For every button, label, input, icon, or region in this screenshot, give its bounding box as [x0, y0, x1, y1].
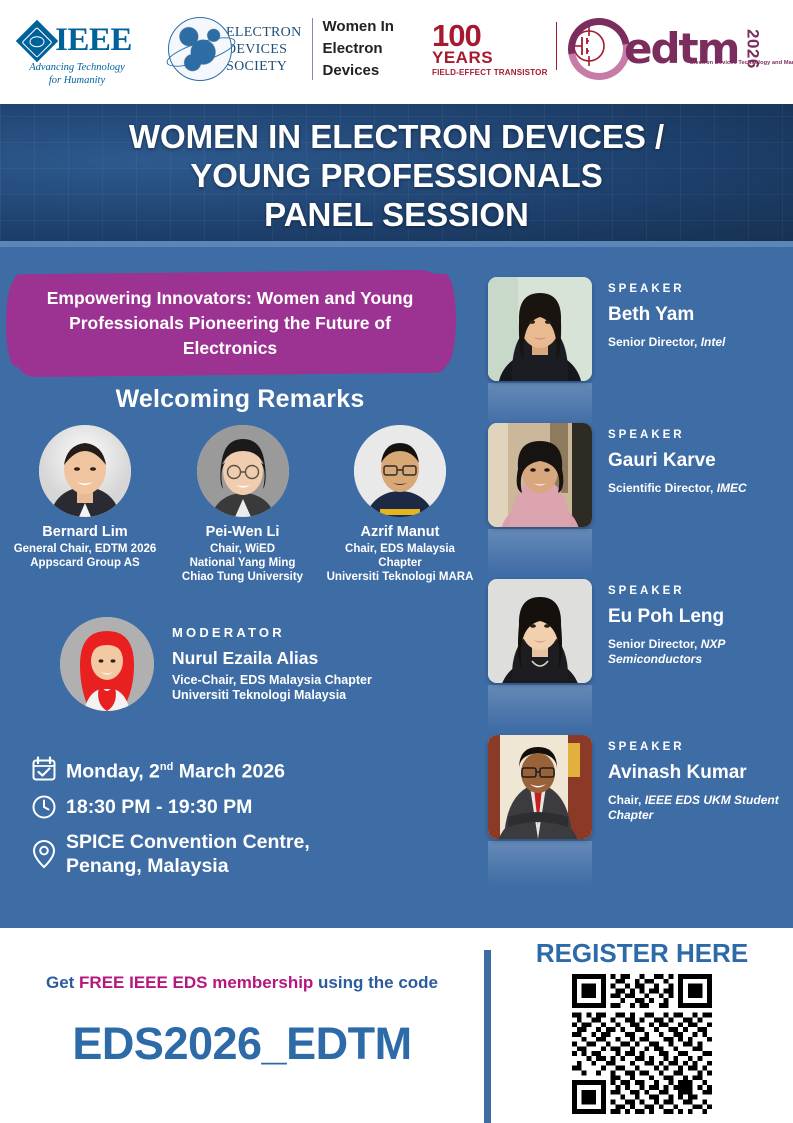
event-details: Monday, 2nd March 2026 18:30 PM - 19:30 … [30, 755, 310, 887]
promo-highlight: FREE IEEE EDS membership [79, 973, 313, 992]
edtm-subtitle: Electron Devices Technology and Manufact… [690, 60, 793, 66]
promo-code: EDS2026_EDTM [0, 1018, 484, 1070]
welcoming-person-role-line1: Chair, EDS Malaysia Chapter [325, 542, 475, 570]
welcoming-person-role: Chair, WiED National Yang Ming Chiao Tun… [168, 542, 318, 584]
welcoming-person-role-line1: Chair, WiED [168, 542, 318, 556]
welcoming-remarks-heading: Welcoming Remarks [0, 385, 480, 414]
moderator-block: MODERATOR Nurul Ezaila Alias Vice-Chair,… [60, 617, 470, 711]
speaker-photo-wrap [488, 277, 592, 429]
register-section: REGISTER HERE [491, 928, 793, 1123]
fet-100-years: YEARS [432, 49, 548, 66]
logo-header: IEEE Advancing Technology for Humanity E… [0, 0, 793, 104]
theme-banner: Empowering Innovators: Women and Young P… [14, 272, 446, 375]
speaker-label: SPEAKER [608, 429, 747, 441]
wied-line-1: Women In [323, 16, 394, 38]
speaker-info: SPEAKER Gauri Karve Scientific Director,… [608, 423, 747, 496]
theme-text: Empowering Innovators: Women and Young P… [14, 272, 446, 375]
moderator-info: MODERATOR Nurul Ezaila Alias Vice-Chair,… [172, 625, 372, 703]
speaker-role-org: IMEC [717, 481, 747, 495]
welcoming-person-role-line3: Chiao Tung University [168, 570, 318, 584]
fet-100-number: 100 [432, 22, 548, 49]
welcoming-person-role-line1: General Chair, EDTM 2026 [10, 542, 160, 556]
clock-icon [30, 793, 58, 821]
event-venue-line2: Penang, Malaysia [66, 854, 310, 878]
speaker-role-plain: Scientific Director, [608, 481, 717, 495]
event-date: Monday, 2nd March 2026 [66, 755, 285, 784]
welcoming-person-name: Azrif Manut [325, 524, 475, 541]
speaker-role: Senior Director, NXP Semiconductors [608, 637, 788, 667]
speaker-photo-wrap [488, 423, 592, 575]
promo-prefix: Get [46, 973, 79, 992]
eds-logo: ELECTRON DEVICES SOCIETY Women In Electr… [168, 16, 394, 82]
avatar [354, 425, 446, 517]
calendar-icon [30, 755, 58, 783]
wied-wordmark: Women In Electron Devices [323, 16, 394, 82]
avatar [60, 617, 154, 711]
avatar [39, 425, 131, 517]
page-title: WOMEN IN ELECTRON DEVICES / YOUNG PROFES… [129, 117, 664, 234]
footer: Get FREE IEEE EDS membership using the c… [0, 928, 793, 1123]
eds-line-2: DEVICES [226, 41, 302, 58]
welcoming-remarks-row: Bernard Lim General Chair, EDTM 2026 App… [10, 425, 475, 584]
event-date-prefix: Monday, 2 [66, 761, 160, 783]
speaker-photo-wrap [488, 579, 592, 731]
speaker-name: Avinash Kumar [608, 762, 788, 784]
welcoming-person: Bernard Lim General Chair, EDTM 2026 App… [10, 425, 160, 584]
speaker-name: Eu Poh Leng [608, 606, 788, 628]
moderator-name: Nurul Ezaila Alias [172, 648, 372, 669]
event-venue-line1: SPICE Convention Centre, [66, 830, 310, 854]
welcoming-person-name: Pei-Wen Li [168, 524, 318, 541]
event-venue-row: SPICE Convention Centre, Penang, Malaysi… [30, 830, 310, 878]
ieee-tagline-line2: for Humanity [29, 74, 125, 87]
eds-wordmark: ELECTRON DEVICES SOCIETY [226, 24, 302, 75]
ieee-logo: IEEE Advancing Technology for Humanity [12, 22, 142, 87]
speaker-label: SPEAKER [608, 741, 788, 753]
eds-line-1: ELECTRON [226, 24, 302, 41]
speaker-role: Scientific Director, IMEC [608, 481, 747, 496]
moderator-role-line2: Universiti Teknologi Malaysia [172, 688, 372, 703]
event-venue: SPICE Convention Centre, Penang, Malaysi… [66, 830, 310, 878]
speaker-photo-wrap [488, 735, 592, 887]
wied-line-2: Electron [323, 38, 394, 60]
avatar [197, 425, 289, 517]
welcoming-person: Pei-Wen Li Chair, WiED National Yang Min… [168, 425, 318, 584]
ieee-wordmark: IEEE [55, 22, 132, 59]
left-column: Empowering Innovators: Women and Young P… [0, 247, 480, 928]
moderator-label: MODERATOR [172, 625, 372, 640]
fet-100-text: 100 YEARS FIELD-EFFECT TRANSISTOR [432, 22, 548, 77]
welcoming-person-role-line2: Universiti Teknologi MARA [325, 570, 475, 584]
footer-divider [484, 950, 491, 1123]
wied-line-3: Devices [323, 60, 394, 82]
ieee-tagline: Advancing Technology for Humanity [29, 61, 125, 87]
speaker-role: Chair, IEEE EDS UKM Student Chapter [608, 793, 788, 823]
speaker-role-plain: Chair, [608, 793, 645, 807]
avatar [488, 277, 592, 381]
logo-divider [312, 18, 313, 80]
photo-reflection [488, 841, 592, 887]
title-line-1: WOMEN IN ELECTRON DEVICES / [129, 118, 664, 155]
ieee-logo-top: IEEE [22, 22, 132, 59]
qr-code[interactable] [572, 974, 712, 1114]
event-date-row: Monday, 2nd March 2026 [30, 755, 310, 784]
event-time-row: 18:30 PM - 19:30 PM [30, 793, 310, 821]
location-pin-icon [30, 840, 58, 868]
welcoming-person-name: Bernard Lim [10, 524, 160, 541]
title-line-3: PANEL SESSION [264, 196, 529, 233]
speaker-info: SPEAKER Avinash Kumar Chair, IEEE EDS UK… [608, 735, 788, 823]
speaker-role-org: Intel [701, 335, 726, 349]
avatar [488, 423, 592, 527]
event-date-ordinal: nd [160, 761, 173, 773]
title-banner: WOMEN IN ELECTRON DEVICES / YOUNG PROFES… [0, 104, 793, 247]
register-title: REGISTER HERE [491, 938, 793, 969]
speaker-role-plain: Senior Director, [608, 335, 701, 349]
avatar [488, 579, 592, 683]
welcoming-person-role-line2: Appscard Group AS [10, 556, 160, 570]
photo-reflection [488, 685, 592, 731]
speaker-role: Senior Director, Intel [608, 335, 725, 350]
globe-icon [168, 17, 232, 81]
speaker-info: SPEAKER Beth Yam Senior Director, Intel [608, 277, 725, 350]
speaker-card: SPEAKER Avinash Kumar Chair, IEEE EDS UK… [488, 735, 788, 887]
moderator-role-line1: Vice-Chair, EDS Malaysia Chapter [172, 673, 372, 688]
avatar [488, 735, 592, 839]
speaker-name: Beth Yam [608, 304, 725, 326]
speaker-card: SPEAKER Eu Poh Leng Senior Director, NXP… [488, 579, 788, 731]
photo-reflection [488, 529, 592, 575]
speaker-info: SPEAKER Eu Poh Leng Senior Director, NXP… [608, 579, 788, 667]
promo-suffix: using the code [313, 973, 438, 992]
speakers-column: SPEAKER Beth Yam Senior Director, Intel [480, 247, 793, 928]
event-date-suffix: March 2026 [173, 761, 285, 783]
welcoming-person-role: Chair, EDS Malaysia Chapter Universiti T… [325, 542, 475, 584]
moderator-role: Vice-Chair, EDS Malaysia Chapter Univers… [172, 673, 372, 703]
main-panel: Empowering Innovators: Women and Young P… [0, 247, 793, 928]
ieee-tagline-line1: Advancing Technology [29, 61, 125, 74]
title-line-2: YOUNG PROFESSIONALS [190, 157, 603, 194]
welcoming-person-role-line2: National Yang Ming [168, 556, 318, 570]
speaker-label: SPEAKER [608, 283, 725, 295]
fet-100-subject: FIELD-EFFECT TRANSISTOR [432, 68, 548, 77]
speaker-card: SPEAKER Beth Yam Senior Director, Intel [488, 277, 788, 429]
promo-section: Get FREE IEEE EDS membership using the c… [0, 928, 484, 1123]
speaker-name: Gauri Karve [608, 450, 747, 472]
ieee-diamond-icon [16, 19, 58, 61]
event-time: 18:30 PM - 19:30 PM [66, 795, 252, 819]
speaker-card: SPEAKER Gauri Karve Scientific Director,… [488, 423, 788, 575]
eds-line-3: SOCIETY [226, 58, 302, 75]
edtm-logo: edtm Electron Devices Technology and Man… [568, 18, 762, 80]
speaker-role-plain: Senior Director, [608, 637, 701, 651]
speaker-label: SPEAKER [608, 585, 788, 597]
welcoming-person-role: General Chair, EDTM 2026 Appscard Group … [10, 542, 160, 570]
promo-line: Get FREE IEEE EDS membership using the c… [0, 973, 484, 993]
welcoming-person: Azrif Manut Chair, EDS Malaysia Chapter … [325, 425, 475, 584]
